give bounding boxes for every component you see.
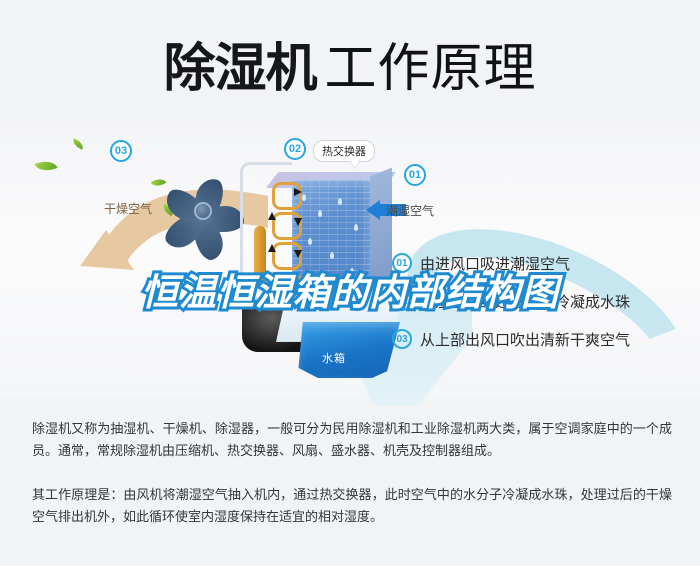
body-paragraph-1: 除湿机又称为抽湿机、干燥机、除湿器，一般可分为民用除湿机和工业除湿机两大类，属于… (32, 418, 672, 462)
page-title: 除湿机工作原理 (0, 26, 700, 101)
body-text: 除湿机又称为抽湿机、干燥机、除湿器，一般可分为民用除湿机和工业除湿机两大类，属于… (32, 418, 672, 462)
callout-tail-icon (349, 158, 361, 168)
water-tank-label: 水箱 (322, 350, 346, 366)
water-tank (292, 322, 400, 378)
page-title-highlight: 除湿机 (163, 40, 316, 98)
legend-number: 03 (392, 329, 412, 349)
dry-air-label: 干燥空气 (104, 200, 152, 217)
diagram-badge-03: 03 (110, 140, 132, 162)
overlay-headline: 恒温恒湿箱的内部结构图 (0, 262, 700, 316)
body-paragraph-2: 其工作原理是：由风机将潮湿空气抽入机内，通过热交换器，此时空气中的水分子冷凝成水… (32, 484, 672, 528)
diagram-badge-01: 01 (404, 164, 426, 186)
humid-air-label: 潮湿空气 (386, 202, 434, 219)
body-text: 其工作原理是：由风机将潮湿空气抽入机内，通过热交换器，此时空气中的水分子冷凝成水… (32, 484, 672, 528)
legend-text: 从上部出风口吹出清新干爽空气 (420, 329, 630, 350)
heat-exchanger-callout: 热交换器 (313, 140, 375, 162)
leaf-icon (71, 138, 85, 149)
leaf-icon (34, 157, 57, 176)
page-title-rest: 工作原理 (325, 40, 537, 98)
diagram-badge-02: 02 (284, 138, 306, 160)
legend-item: 03 从上部出风口吹出清新干爽空气 (392, 324, 692, 354)
page-root: 除湿机工作原理 (0, 0, 700, 566)
